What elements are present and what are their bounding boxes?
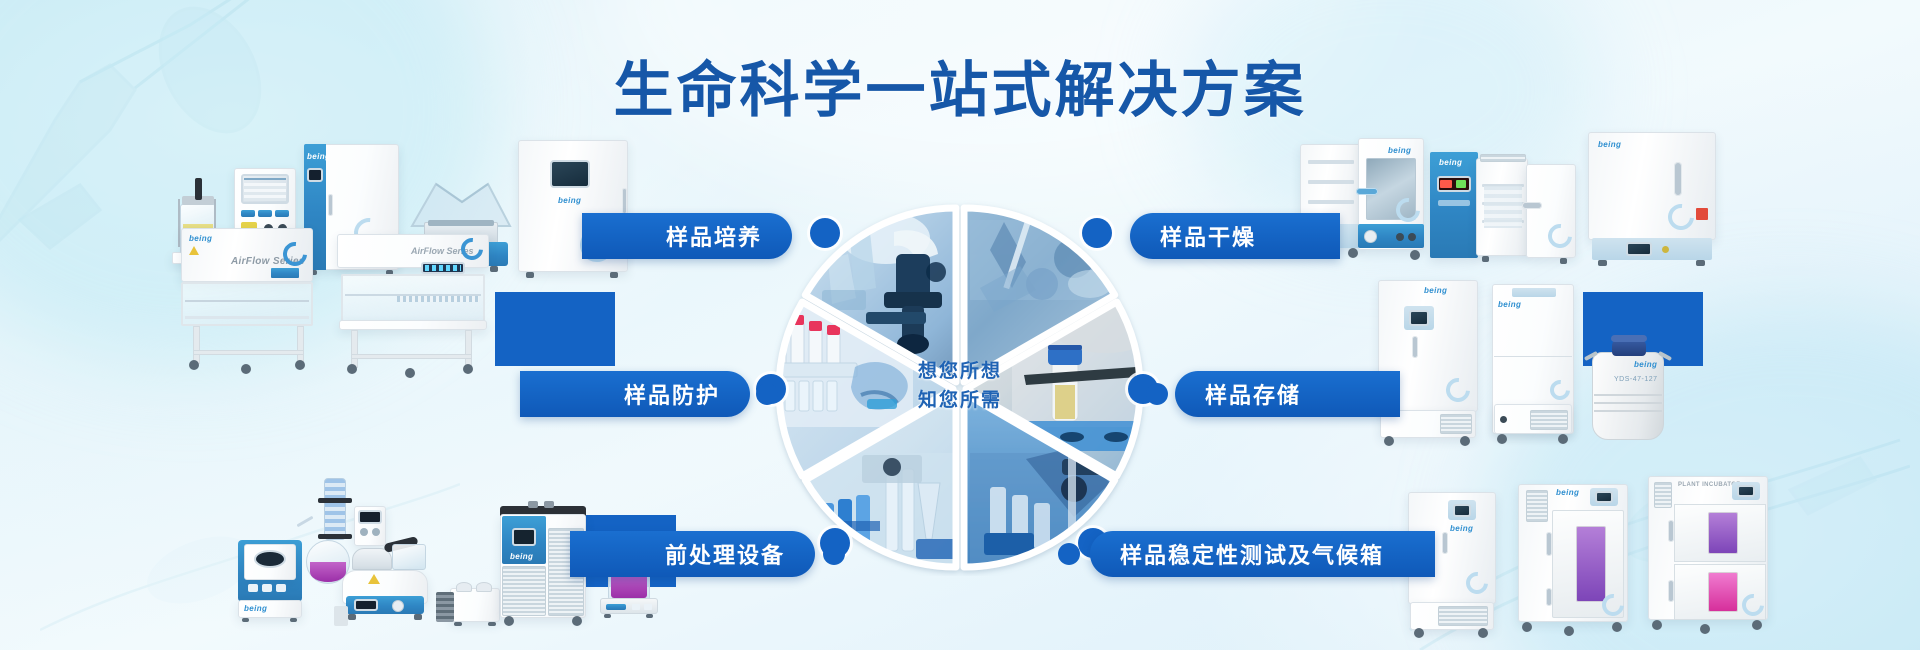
wheel-node-cultivation (810, 218, 840, 248)
solution-wheel: 想您所想 知您所需 (770, 196, 1150, 576)
equipment-cluster-stability-climate: being being PLAN (1408, 470, 1808, 630)
equipment-cluster-sample-protection: being AirFlow Series AirFlow Series (175, 228, 515, 368)
category-pill-pretreatment[interactable]: 前处理设备 (570, 531, 815, 577)
category-label-sample-drying: 样品干燥 (1160, 220, 1256, 252)
equipment-climate-chamber: being (1518, 476, 1628, 632)
equipment-lab-refrigerator: being (1492, 284, 1574, 450)
equipment-cluster-sample-drying: being being (1300, 120, 1730, 260)
slogan-line-1: 想您所想 (918, 357, 1002, 386)
category-pill-stability-climate[interactable]: 样品稳定性测试及气候箱 (1090, 531, 1435, 577)
wheel-node-drying (1082, 218, 1112, 248)
category-pill-sample-drying[interactable]: 样品干燥 (1130, 213, 1340, 259)
connector-dot-protection (756, 383, 778, 405)
category-label-stability-climate: 样品稳定性测试及气候箱 (1120, 538, 1384, 570)
equipment-vacuum-pump (436, 582, 500, 626)
equipment-forced-air-oven: being (1430, 150, 1580, 262)
category-label-sample-storage: 样品存储 (1205, 378, 1301, 410)
equipment-ultra-low-freezer: being (1378, 280, 1478, 446)
equipment-cluster-sample-storage: being being (1378, 280, 1728, 470)
connector-dot-stability (1058, 543, 1080, 565)
equipment-biosafety-cabinet: being AirFlow Series (175, 228, 325, 368)
equipment-laminar-flow-hood: AirFlow Series (337, 234, 497, 370)
equipment-plant-incubator: PLANT INCUBATOR (1648, 470, 1768, 632)
category-label-sample-cultivation: 样品培养 (666, 220, 762, 252)
category-label-pretreatment: 前处理设备 (665, 538, 785, 570)
category-label-sample-protection: 样品防护 (624, 378, 720, 410)
brand-logo: being (307, 152, 330, 161)
equipment-centrifuge: being (238, 540, 302, 622)
equipment-high-temp-oven: being (1588, 132, 1716, 258)
equipment-rotary-evaporator (296, 478, 428, 626)
slogan-line-2: 知您所需 (918, 386, 1002, 415)
wheel-center-slogan: 想您所想 知您所需 (770, 196, 1150, 576)
life-science-solutions-banner: 生命科学一站式解决方案 (0, 0, 1920, 650)
connector-dot-storage (1146, 383, 1168, 405)
category-pill-sample-protection[interactable]: 样品防护 (520, 371, 750, 417)
category-pill-sample-cultivation[interactable]: 样品培养 (582, 213, 792, 259)
page-title: 生命科学一站式解决方案 (0, 42, 1920, 129)
equipment-liquid-nitrogen-tank: being YDS-47-127 (1584, 332, 1672, 442)
category-pill-sample-storage[interactable]: 样品存储 (1175, 371, 1400, 417)
connector-dot-pretreatment (823, 543, 845, 565)
